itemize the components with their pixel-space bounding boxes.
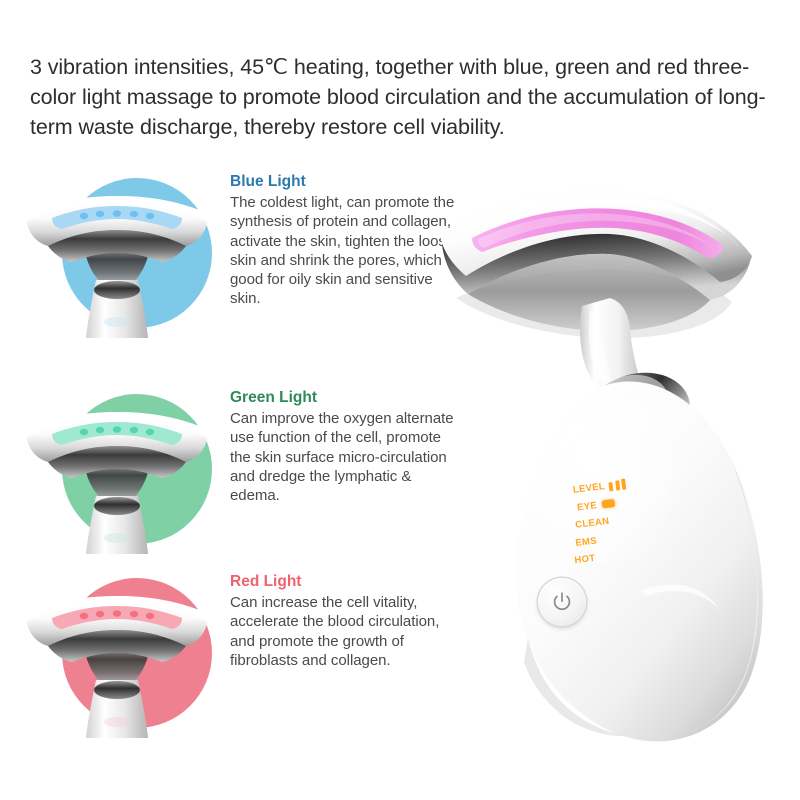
- feature-text-green: Green Light Can improve the oxygen alter…: [230, 388, 458, 505]
- led-label-clean: CLEAN: [575, 516, 610, 531]
- feature-body-red: Can increase the cell vitality, accelera…: [230, 593, 458, 670]
- device-thumbnail-blue-icon: [22, 172, 212, 340]
- feature-text-blue: Blue Light The coldest light, can promot…: [230, 172, 458, 309]
- led-label-hot: HOT: [574, 553, 596, 566]
- header-paragraph: 3 vibration intensities, 45℃ heating, to…: [30, 52, 772, 142]
- feature-title-blue: Blue Light: [230, 172, 458, 192]
- product-illustration-icon: [432, 186, 772, 756]
- feature-text-red: Red Light Can increase the cell vitality…: [230, 572, 458, 670]
- power-icon: [551, 591, 573, 613]
- led-control-panel: LEVEL EYE CLEAN EMS HOT: [572, 467, 702, 568]
- led-label-level: LEVEL: [572, 481, 605, 496]
- level-bars-indicator: [608, 479, 626, 492]
- thumbnail-blue: [22, 172, 200, 340]
- feature-body-blue: The coldest light, can promote the synth…: [230, 193, 458, 309]
- eye-indicator: [601, 499, 615, 509]
- product-photo: LEVEL EYE CLEAN EMS HOT: [432, 186, 772, 756]
- device-thumbnail-green-icon: [22, 388, 212, 556]
- feature-title-green: Green Light: [230, 388, 458, 408]
- power-button[interactable]: [538, 578, 586, 626]
- thumbnail-green: [22, 388, 200, 556]
- feature-title-red: Red Light: [230, 572, 458, 592]
- led-label-eye: EYE: [577, 500, 598, 513]
- device-thumbnail-red-icon: [22, 572, 212, 740]
- feature-body-green: Can improve the oxygen alternate use fun…: [230, 409, 458, 505]
- led-label-ems: EMS: [575, 535, 598, 549]
- thumbnail-red: [22, 572, 200, 740]
